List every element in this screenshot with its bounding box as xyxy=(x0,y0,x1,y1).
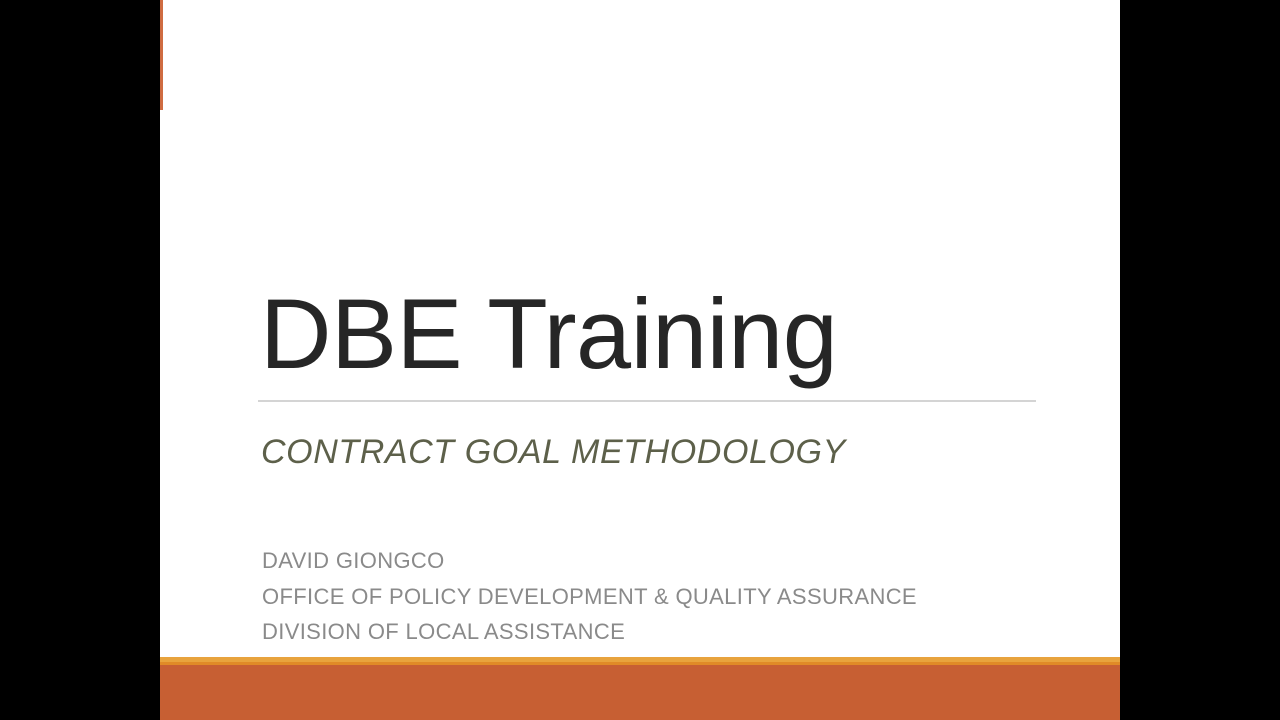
presenter-byline: DAVID GIONGCO OFFICE OF POLICY DEVELOPME… xyxy=(262,543,917,650)
video-viewport: DBE Training CONTRACT GOAL METHODOLOGY D… xyxy=(0,0,1280,720)
letterbox-bar-right xyxy=(1120,0,1280,720)
byline-line-division: DIVISION OF LOCAL ASSISTANCE xyxy=(262,614,917,650)
byline-line-office: OFFICE OF POLICY DEVELOPMENT & QUALITY A… xyxy=(262,579,917,615)
accent-band-terracotta xyxy=(160,665,1120,720)
title-block: DBE Training xyxy=(260,282,1040,387)
slide-subtitle: CONTRACT GOAL METHODOLOGY xyxy=(261,432,846,473)
slide-title: DBE Training xyxy=(260,282,1040,387)
presentation-slide: DBE Training CONTRACT GOAL METHODOLOGY D… xyxy=(160,0,1120,720)
title-divider-rule xyxy=(258,400,1036,402)
accent-band-edge-right xyxy=(160,55,163,110)
accent-band-edge-left xyxy=(160,0,163,55)
letterbox-bar-left xyxy=(0,0,160,720)
byline-line-presenter-name: DAVID GIONGCO xyxy=(262,543,917,579)
